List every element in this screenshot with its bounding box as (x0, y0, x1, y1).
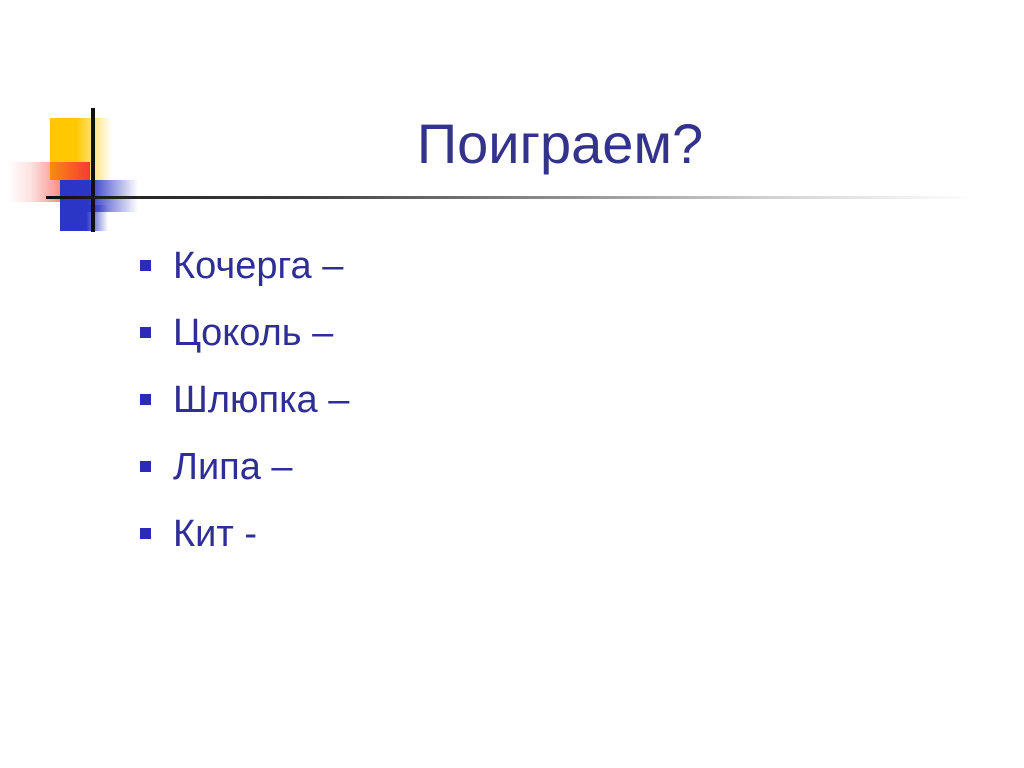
decorative-logo (0, 100, 180, 235)
list-item: Кочерга – (140, 232, 900, 299)
list-item-label: Кит - (173, 512, 257, 556)
list-item: Кит - (140, 500, 900, 567)
list-item: Шлюпка – (140, 366, 900, 433)
square-bullet-icon (140, 260, 151, 271)
bullet-list: Кочерга – Цоколь – Шлюпка – Липа – Кит - (140, 232, 900, 567)
square-bullet-icon (140, 327, 151, 338)
vertical-line-icon (91, 108, 95, 232)
list-item-label: Липа – (173, 445, 293, 489)
square-bullet-icon (140, 461, 151, 472)
presentation-slide: Поиграем? Кочерга – Цоколь – Шлюпка – Ли… (0, 0, 1024, 768)
square-bullet-icon (140, 528, 151, 539)
square-bullet-icon (140, 394, 151, 405)
list-item: Цоколь – (140, 299, 900, 366)
title-divider (46, 196, 976, 199)
list-item-label: Шлюпка – (173, 378, 349, 422)
list-item-label: Кочерга – (173, 244, 343, 288)
blue-step-square-icon (60, 205, 108, 231)
list-item: Липа – (140, 433, 900, 500)
page-title: Поиграем? (180, 110, 940, 178)
list-item-label: Цоколь – (173, 311, 333, 355)
